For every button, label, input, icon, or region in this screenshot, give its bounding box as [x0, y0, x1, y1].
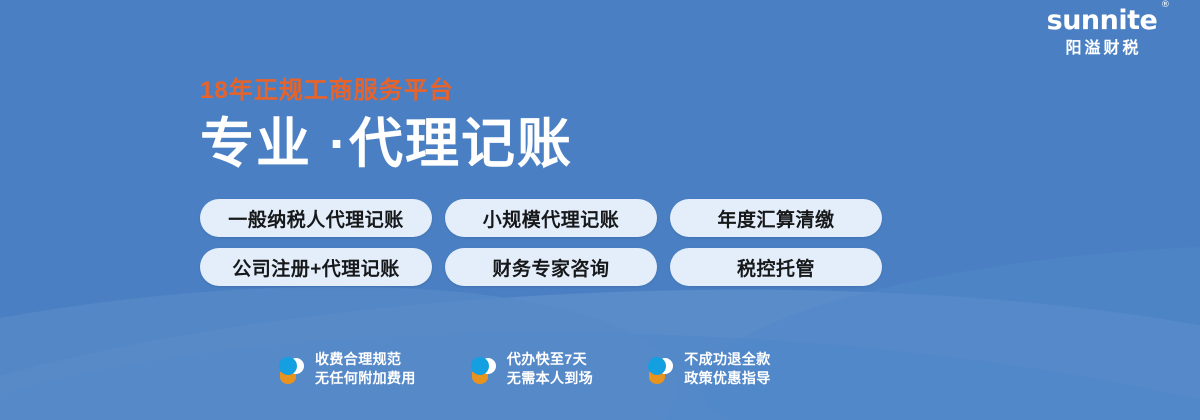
feature-line-1: 不成功退全款	[684, 351, 770, 367]
feature-line-2: 无任何附加费用	[315, 369, 416, 388]
page-title: 专业 ·代理记账	[200, 112, 573, 176]
feature-text: 代办快至7天 无需本人到场	[507, 350, 593, 388]
feature-line-1: 收费合理规范	[315, 351, 401, 367]
service-pill[interactable]: 一般纳税人代理记账	[200, 199, 432, 237]
service-pill-grid: 一般纳税人代理记账 小规模代理记账 年度汇算清缴 公司注册+代理记账 财务专家咨…	[200, 199, 882, 286]
brand-logo[interactable]: sunnite ® 阳溢财税	[1022, 6, 1182, 59]
feature-list: 收费合理规范 无任何附加费用 代办快至7天 无需本人到场	[276, 350, 771, 388]
service-pill[interactable]: 财务专家咨询	[445, 248, 657, 286]
feature-item: 收费合理规范 无任何附加费用	[276, 350, 416, 388]
eyebrow-text: 18年正规工商服务平台	[200, 76, 573, 106]
logo-chinese-name: 阳溢财税	[1022, 39, 1182, 59]
coin-stack-icon	[276, 353, 306, 385]
feature-text: 不成功退全款 政策优惠指导	[684, 350, 770, 388]
coin-stack-icon	[645, 353, 675, 385]
feature-item: 代办快至7天 无需本人到场	[468, 350, 593, 388]
service-pill[interactable]: 税控托管	[670, 248, 882, 286]
feature-item: 不成功退全款 政策优惠指导	[645, 350, 770, 388]
feature-text: 收费合理规范 无任何附加费用	[315, 350, 416, 388]
service-pill[interactable]: 小规模代理记账	[445, 199, 657, 237]
service-pill[interactable]: 年度汇算清缴	[670, 199, 882, 237]
feature-line-2: 无需本人到场	[507, 369, 593, 388]
promo-banner: sunnite ® 阳溢财税 18年正规工商服务平台 专业 ·代理记账 一般纳税…	[0, 0, 1200, 420]
logo-wordmark-text: sunnite	[1047, 5, 1158, 36]
registered-trademark-icon: ®	[1161, 1, 1170, 10]
feature-line-2: 政策优惠指导	[684, 369, 770, 388]
headline-block: 18年正规工商服务平台 专业 ·代理记账	[200, 76, 573, 176]
service-pill[interactable]: 公司注册+代理记账	[200, 248, 432, 286]
coin-stack-icon	[468, 353, 498, 385]
logo-wordmark: sunnite ®	[1047, 6, 1158, 36]
feature-line-1: 代办快至7天	[507, 351, 587, 367]
